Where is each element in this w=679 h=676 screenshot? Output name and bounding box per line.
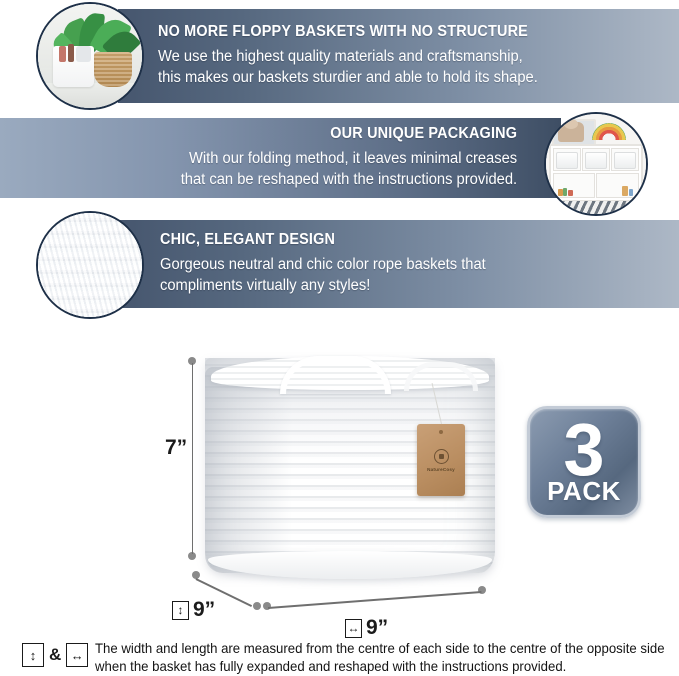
width-value: 9” [366, 616, 388, 640]
banner-1-text: NO MORE FLOPPY BASKETS WITH NO STRUCTURE… [158, 24, 558, 87]
footnote-line-2: when the basket has fully expanded and r… [95, 658, 665, 676]
horizontal-arrow-icon: ↔ [345, 619, 362, 638]
banner-1-title: NO MORE FLOPPY BASKETS WITH NO STRUCTURE [158, 24, 530, 40]
rope-basket-photo: NatureCosy [205, 358, 495, 573]
banner-1-line-1: We use the highest quality materials and… [158, 47, 538, 67]
rope-texture-art [38, 213, 142, 317]
depth-dimension-label: ↕ 9” [172, 598, 215, 622]
banner-3-text: CHIC, ELEGANT DESIGN Gorgeous neutral an… [160, 232, 503, 295]
banner-2-photo-shelf [544, 112, 648, 216]
feature-banner-2: OUR UNIQUE PACKAGING With our folding me… [0, 118, 561, 198]
width-guide-dot-right [478, 586, 486, 594]
brand-logo-icon [434, 449, 449, 464]
banner-3-line-1: Gorgeous neutral and chic color rope bas… [160, 255, 486, 275]
vertical-arrow-icon: ↕ [22, 643, 44, 667]
feature-banner-3: CHIC, ELEGANT DESIGN Gorgeous neutral an… [118, 220, 679, 308]
pack-label: PACK [547, 478, 621, 504]
depth-value: 9” [193, 598, 215, 622]
feature-banner-1: NO MORE FLOPPY BASKETS WITH NO STRUCTURE… [118, 9, 679, 103]
depth-guide-dot-lower [253, 602, 261, 610]
footnote-text: The width and length are measured from t… [95, 640, 665, 676]
vertical-arrow-icon: ↕ [172, 601, 189, 620]
banner-2-line-1: With our folding method, it leaves minim… [181, 149, 517, 169]
banner-2-line-2: that can be reshaped with the instructio… [181, 170, 517, 190]
measurement-footnote: ↕ & ↔ The width and length are measured … [22, 640, 662, 676]
shelf-photo-art [546, 114, 646, 214]
footnote-line-1: The width and length are measured from t… [95, 640, 665, 658]
footnote-icons: ↕ & ↔ [22, 640, 88, 667]
three-pack-badge: 3 PACK [527, 406, 641, 518]
height-guide-line [192, 363, 194, 554]
width-dimension-label: ↔ 9” [345, 616, 388, 640]
banner-2-title: OUR UNIQUE PACKAGING [188, 126, 517, 142]
tag-hole [439, 430, 443, 434]
width-guide-line [268, 591, 482, 609]
banner-1-photo-plants [36, 2, 144, 110]
tag-brand-name: NatureCosy [427, 467, 455, 472]
banner-1-line-2: this makes our baskets sturdier and able… [158, 68, 538, 88]
basket-handle-front [280, 356, 391, 394]
product-infographic: NO MORE FLOPPY BASKETS WITH NO STRUCTURE… [0, 0, 679, 673]
banner-3-title: CHIC, ELEGANT DESIGN [160, 232, 479, 248]
height-dimension-label: 7” [165, 436, 187, 460]
footnote-ampersand: & [49, 645, 61, 665]
banner-2-text: OUR UNIQUE PACKAGING With our folding me… [163, 126, 517, 189]
banner-3-line-2: compliments virtually any styles! [160, 276, 486, 296]
banner-3-photo-rope [36, 211, 144, 319]
horizontal-arrow-icon: ↔ [66, 643, 88, 667]
height-value: 7” [165, 436, 187, 460]
brand-hang-tag: NatureCosy [417, 424, 465, 496]
basket-base [208, 551, 492, 579]
pack-count: 3 [563, 420, 604, 481]
plants-photo-art [38, 4, 142, 108]
